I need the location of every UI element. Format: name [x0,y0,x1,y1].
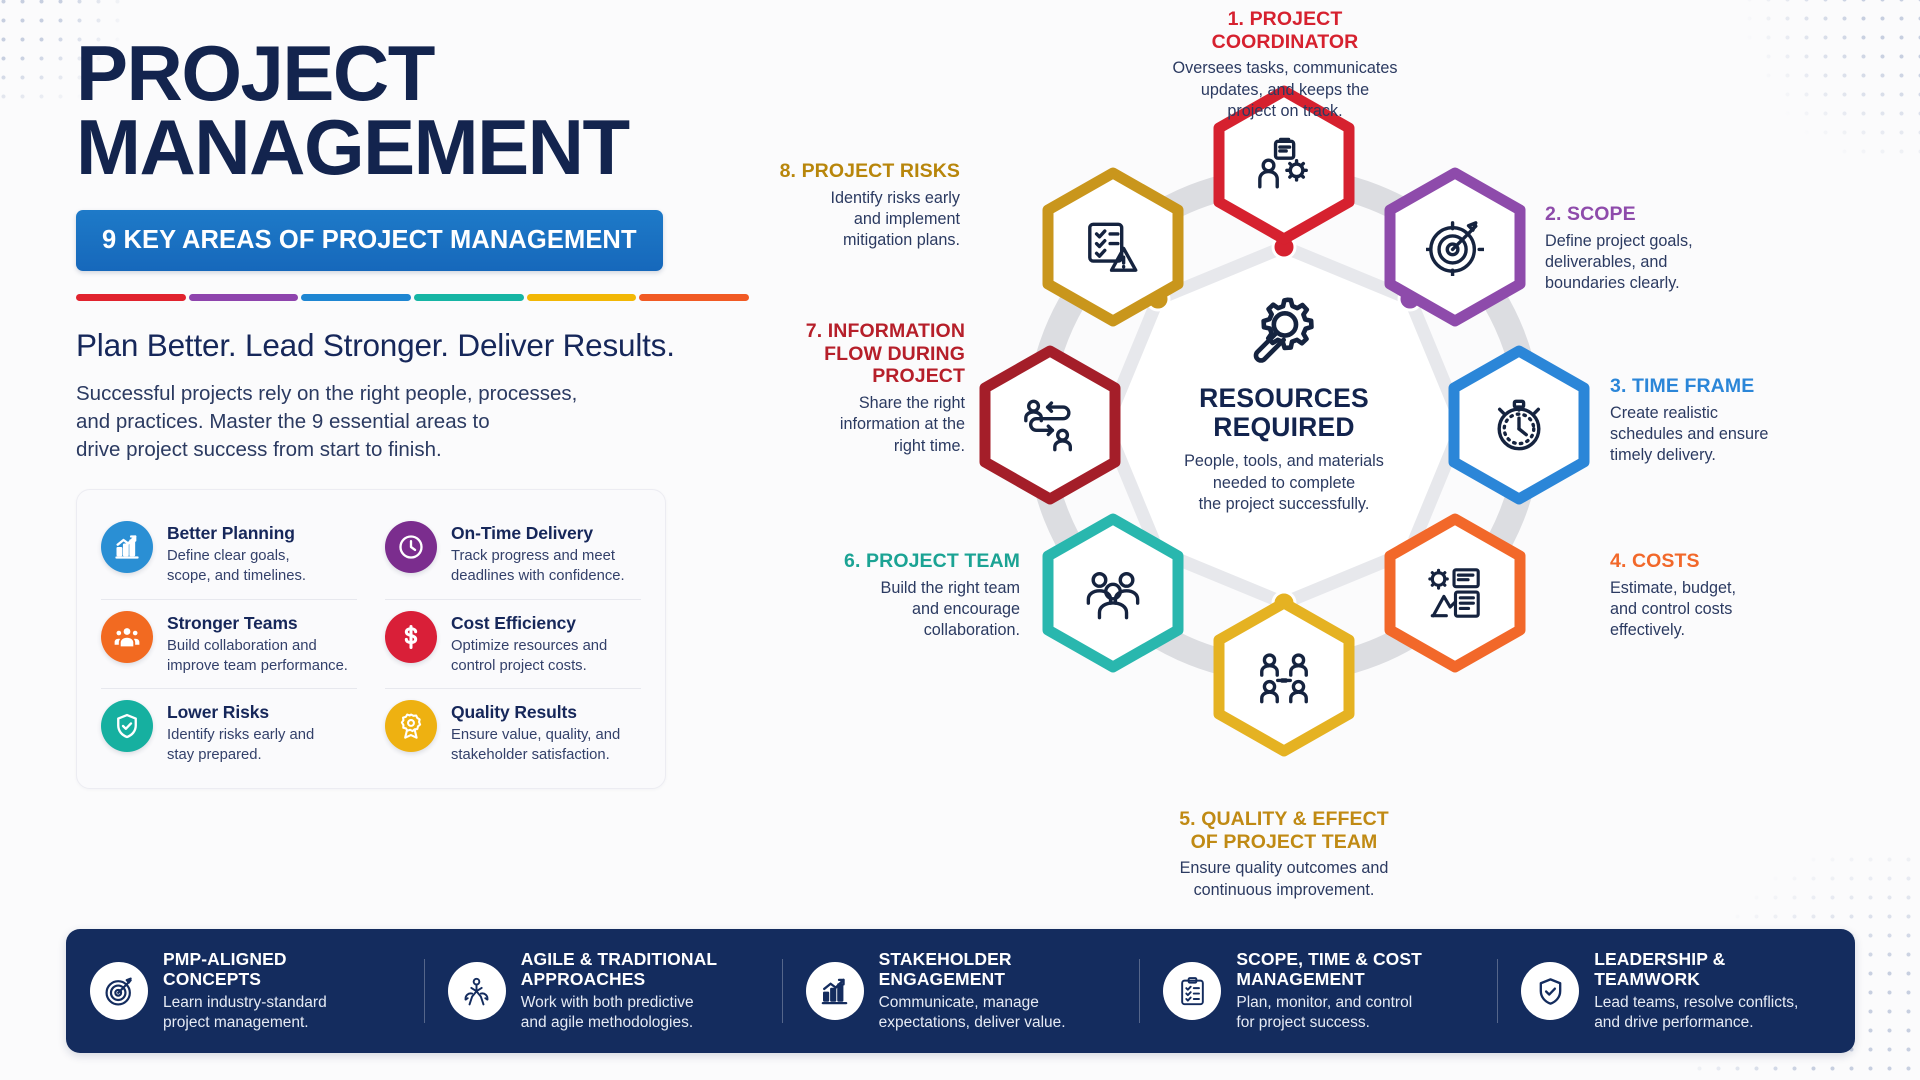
node-title-5: 5. QUALITY & EFFECT OF PROJECT TEAM [1099,808,1469,853]
agile-people-icon [448,962,506,1020]
benefit-desc: Build collaboration and improve team per… [167,637,348,677]
benefit-title: Stronger Teams [167,613,348,634]
benefit-item[interactable]: On-Time Delivery Track progress and meet… [385,510,641,600]
node-title-6: 6. PROJECT TEAM [690,550,1020,573]
benefit-desc-line2: stakeholder satisfaction. [451,746,620,766]
page-title: PROJECT MANAGEMENT [76,36,756,184]
bottom-item-agile-traditional-approaches[interactable]: AGILE & TRADITIONAL APPROACHES Work with… [424,949,782,1033]
information-flow-icon [975,345,1125,505]
bottom-item-desc: Work with both predictive and agile meth… [521,993,717,1033]
color-bar-segment-4 [414,294,524,301]
intro-line-2: and practices. Master the 9 essential ar… [76,408,756,436]
benefit-desc: Optimize resources and control project c… [451,637,607,677]
node-desc-1: Oversees tasks, communicates updates, an… [1100,58,1470,122]
center-desc: People, tools, and materials needed to c… [1184,451,1384,515]
shield-check-icon [1521,962,1579,1020]
benefit-desc-line1: Track progress and meet [451,547,625,567]
node-title-4: 4. COSTS [1610,550,1910,573]
bottom-highlights-bar: PMP-ALIGNED CONCEPTS Learn industry-stan… [66,929,1855,1053]
color-bar-segment-1 [76,294,186,301]
process-wheel: 1. PROJECT COORDINATOR Oversees tasks, c… [780,0,1920,910]
node-label-5: 5. QUALITY & EFFECT OF PROJECT TEAM Ensu… [1099,808,1469,901]
node-label-3: 3. TIME FRAME Create realistic schedules… [1610,375,1910,467]
benefit-title: Lower Risks [167,702,314,723]
benefit-item[interactable]: Quality Results Ensure value, quality, a… [385,689,641,770]
node-title-2: 2. SCOPE [1545,203,1845,226]
bottom-item-title: SCOPE, TIME & COST MANAGEMENT [1236,949,1422,990]
benefit-title: On-Time Delivery [451,523,625,544]
bar-chart-growth-icon [806,962,864,1020]
color-bar-segment-3 [301,294,411,301]
team-network-icon [1209,597,1359,757]
benefit-desc: Identify risks early and stay prepared. [167,726,314,766]
node-desc-7: Share the right information at the right… [655,393,965,457]
benefits-card: Better Planning Define clear goals, scop… [76,489,666,789]
node-label-2: 2. SCOPE Define project goals, deliverab… [1545,203,1845,295]
color-bar-segment-6 [639,294,749,301]
node-title-7: 7. INFORMATION FLOW DURING PROJECT [655,320,965,388]
benefit-desc-line2: control project costs. [451,657,607,677]
node-desc-4: Estimate, budget, and control costs effe… [1610,578,1910,642]
bottom-item-desc: Learn industry-standard project manageme… [163,993,327,1033]
bottom-item-desc: Communicate, manage expectations, delive… [879,993,1066,1033]
bottom-item-title: LEADERSHIP & TEAMWORK [1594,949,1798,990]
benefit-desc-line2: stay prepared. [167,746,314,766]
bar-chart-growth-icon [101,521,153,573]
hex-node-5-quality-effect[interactable] [1209,597,1359,757]
bottom-item-scope-time-cost-management[interactable]: SCOPE, TIME & COST MANAGEMENT Plan, moni… [1139,949,1497,1033]
shield-check-icon [101,700,153,752]
page-title-line2: MANAGEMENT [76,110,756,184]
benefit-desc-line2: improve team performance. [167,657,348,677]
bottom-item-leadership-teamwork[interactable]: LEADERSHIP & TEAMWORK Lead teams, resolv… [1497,949,1855,1033]
bottom-item-title: PMP-ALIGNED CONCEPTS [163,949,327,990]
bottom-item-title: STAKEHOLDER ENGAGEMENT [879,949,1066,990]
clock-icon [385,521,437,573]
hex-node-7-information-flow[interactable] [975,345,1125,505]
benefit-item[interactable]: Stronger Teams Build collaboration and i… [101,600,357,690]
wheel-center: RESOURCES REQUIRED People, tools, and ma… [1145,275,1423,575]
intro-line-1: Successful projects rely on the right pe… [76,380,756,408]
benefit-desc-line1: Ensure value, quality, and [451,726,620,746]
gear-magnifier-icon [1247,293,1321,372]
clipboard-check-icon [1163,962,1221,1020]
people-group-icon [101,611,153,663]
bottom-item-pmp-aligned-concepts[interactable]: PMP-ALIGNED CONCEPTS Learn industry-stan… [66,949,424,1033]
hex-node-3-time-frame[interactable] [1444,345,1594,505]
dollar-icon [385,611,437,663]
center-title: RESOURCES REQUIRED [1199,384,1369,442]
benefit-desc-line2: deadlines with confidence. [451,567,625,587]
benefit-desc: Track progress and meet deadlines with c… [451,547,625,587]
node-label-4: 4. COSTS Estimate, budget, and control c… [1610,550,1910,642]
award-ribbon-icon [385,700,437,752]
benefit-desc: Ensure value, quality, and stakeholder s… [451,726,620,766]
benefit-desc-line1: Build collaboration and [167,637,348,657]
tagline: Plan Better. Lead Stronger. Deliver Resu… [76,327,756,364]
benefit-desc: Define clear goals, scope, and timelines… [167,547,306,587]
node-label-7: 7. INFORMATION FLOW DURING PROJECT Share… [655,320,965,457]
stopwatch-icon [1444,345,1594,505]
benefit-title: Better Planning [167,523,306,544]
node-desc-3: Create realistic schedules and ensure ti… [1610,403,1910,467]
subtitle-ribbon: 9 KEY AREAS OF PROJECT MANAGEMENT [76,210,663,271]
node-title-1: 1. PROJECT COORDINATOR [1100,8,1470,53]
left-panel: PROJECT MANAGEMENT 9 KEY AREAS OF PROJEC… [76,36,756,789]
node-desc-8: Identify risks early and implement mitig… [670,188,960,252]
node-desc-6: Build the right team and encourage colla… [690,578,1020,642]
benefit-desc-line1: Define clear goals, [167,547,306,567]
benefit-desc-line1: Identify risks early and [167,726,314,746]
benefit-item[interactable]: Cost Efficiency Optimize resources and c… [385,600,641,690]
benefit-desc-line2: scope, and timelines. [167,567,306,587]
bottom-item-desc: Lead teams, resolve conflicts, and drive… [1594,993,1798,1033]
benefit-item[interactable]: Lower Risks Identify risks early and sta… [101,689,357,770]
benefit-item[interactable]: Better Planning Define clear goals, scop… [101,510,357,600]
color-divider-bar [76,294,749,301]
node-desc-2: Define project goals, deliverables, and … [1545,231,1845,295]
color-bar-segment-2 [189,294,299,301]
node-label-6: 6. PROJECT TEAM Build the right team and… [690,550,1020,642]
intro-paragraph: Successful projects rely on the right pe… [76,380,756,463]
node-desc-5: Ensure quality outcomes and continuous i… [1099,858,1469,901]
intro-line-3: drive project success from start to fini… [76,436,756,464]
node-label-8: 8. PROJECT RISKS Identify risks early an… [670,160,960,252]
color-bar-segment-5 [527,294,637,301]
bottom-item-title: AGILE & TRADITIONAL APPROACHES [521,949,717,990]
bottom-item-stakeholder-engagement[interactable]: STAKEHOLDER ENGAGEMENT Communicate, mana… [782,949,1140,1033]
node-title-3: 3. TIME FRAME [1610,375,1910,398]
benefit-title: Quality Results [451,702,620,723]
target-dart-icon [90,962,148,1020]
node-title-8: 8. PROJECT RISKS [670,160,960,183]
bottom-item-desc: Plan, monitor, and control for project s… [1236,993,1422,1033]
benefit-title: Cost Efficiency [451,613,607,634]
node-label-1: 1. PROJECT COORDINATOR Oversees tasks, c… [1100,8,1470,122]
benefit-desc-line1: Optimize resources and [451,637,607,657]
